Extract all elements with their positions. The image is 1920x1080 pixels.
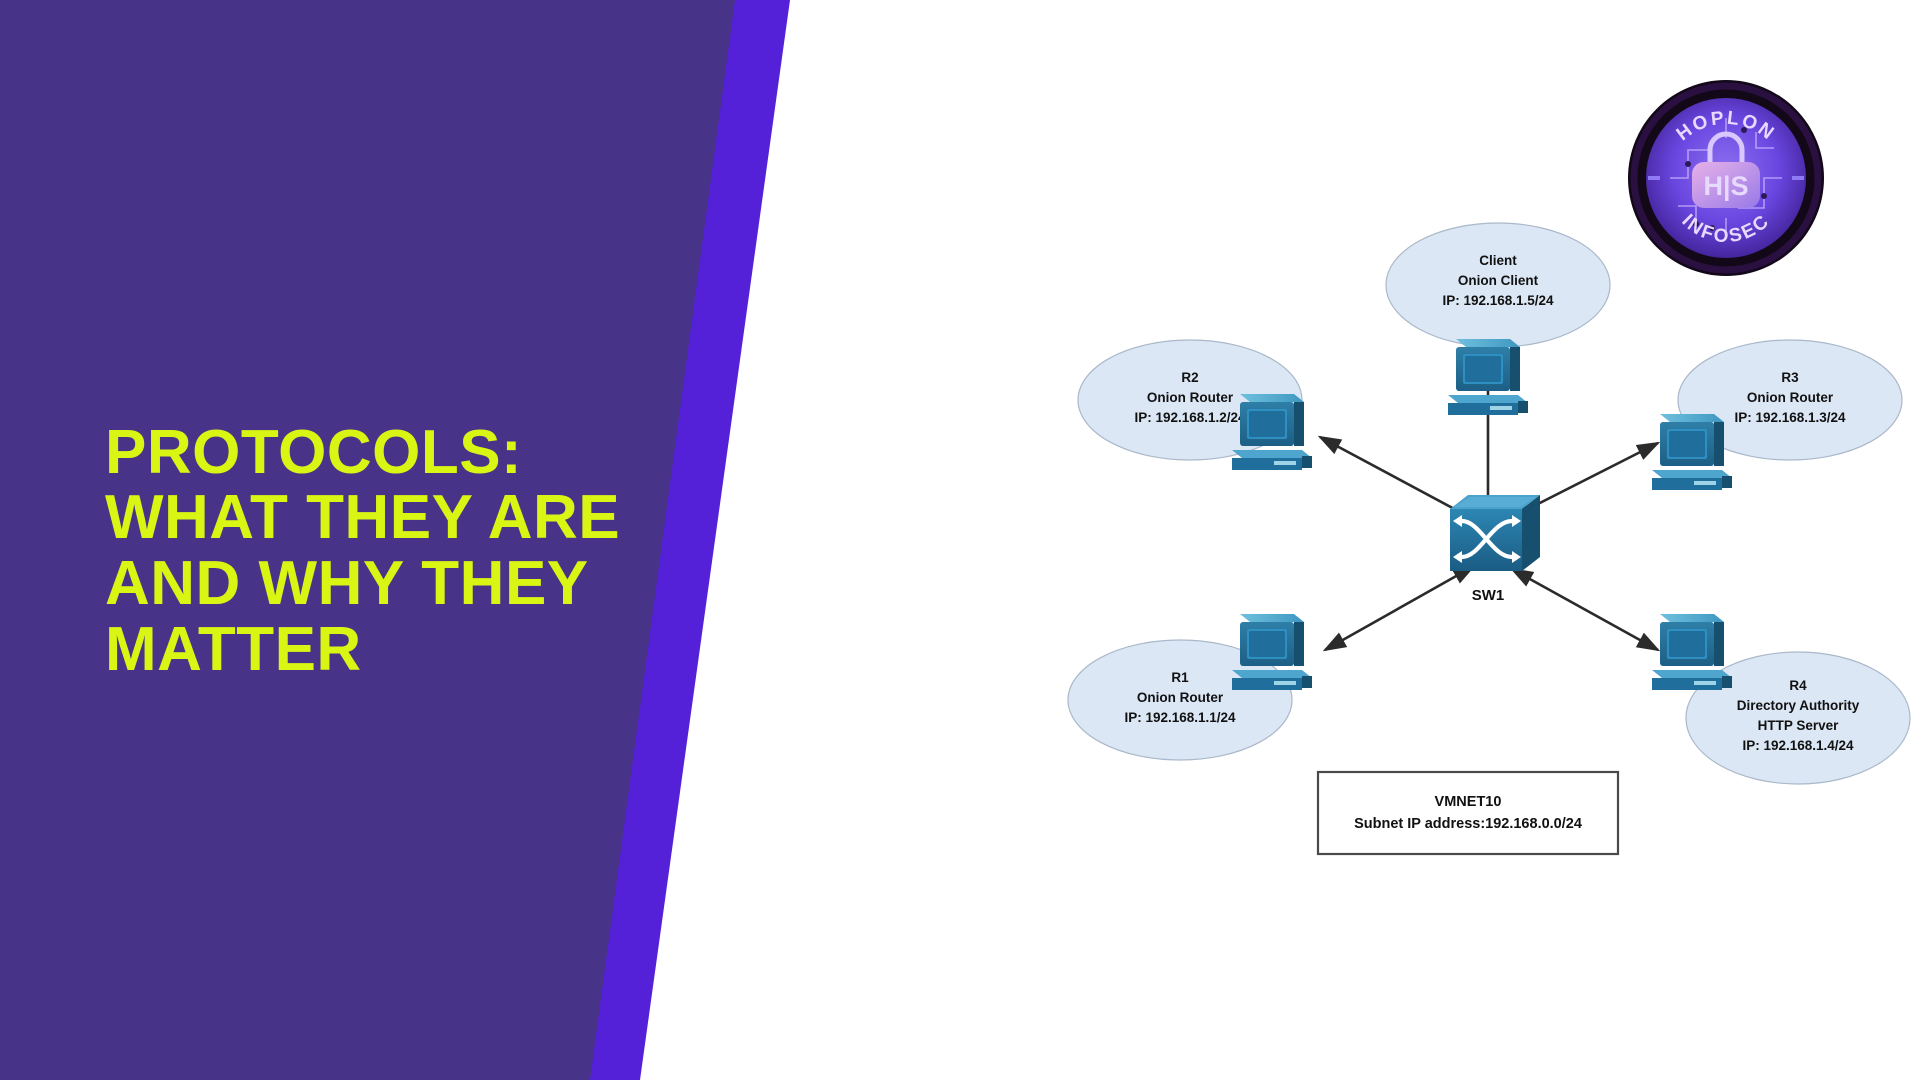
node-r1-line3: IP: 192.168.1.1/24 — [1124, 710, 1236, 725]
node-client-line3: IP: 192.168.1.5/24 — [1442, 293, 1554, 308]
link-sw1-r1 — [1325, 575, 1458, 650]
link-sw1-r3 — [1526, 443, 1658, 510]
subnet-box[interactable]: VMNET10 Subnet IP address:192.168.0.0/24 — [1318, 772, 1618, 854]
desktop-computer-icon — [1652, 614, 1732, 690]
node-r3-line3: IP: 192.168.1.3/24 — [1734, 410, 1846, 425]
node-r4-line4: IP: 192.168.1.4/24 — [1742, 738, 1854, 753]
slide-canvas: Protocols: What they are and why they ma… — [0, 0, 1920, 1080]
desktop-computer-icon — [1232, 614, 1312, 690]
subnet-box-rect — [1318, 772, 1618, 854]
desktop-computer-icon — [1652, 414, 1732, 490]
desktop-computer-icon — [1448, 339, 1528, 415]
node-sw1-label: SW1 — [1472, 587, 1505, 604]
node-r4-line3: HTTP Server — [1758, 718, 1840, 733]
node-client[interactable]: Client Onion Client IP: 192.168.1.5/24 — [1386, 223, 1610, 415]
node-r4-line1: R4 — [1789, 678, 1807, 693]
node-client-line1: Client — [1479, 253, 1517, 268]
link-sw1-r2 — [1320, 437, 1460, 512]
subnet-box-line2: Subnet IP address:192.168.0.0/24 — [1354, 816, 1582, 832]
logo-center-text: H|S — [1703, 171, 1748, 201]
node-r1-line1: R1 — [1171, 670, 1189, 685]
link-sw1-r4 — [1528, 578, 1658, 650]
node-r2-line2: Onion Router — [1147, 390, 1234, 405]
node-r2-line3: IP: 192.168.1.2/24 — [1134, 410, 1246, 425]
node-client-line2: Onion Client — [1458, 273, 1539, 288]
node-r4[interactable]: R4 Directory Authority HTTP Server IP: 1… — [1652, 614, 1910, 784]
node-r4-line2: Directory Authority — [1737, 698, 1860, 713]
node-r1-line2: Onion Router — [1137, 690, 1224, 705]
node-r2[interactable]: R2 Onion Router IP: 192.168.1.2/24 — [1078, 340, 1312, 470]
page-title: Protocols: What they are and why they ma… — [105, 420, 765, 683]
subnet-box-line1: VMNET10 — [1435, 794, 1502, 810]
node-sw1[interactable]: SW1 — [1450, 495, 1540, 604]
node-r3-line2: Onion Router — [1747, 390, 1834, 405]
node-r2-line1: R2 — [1181, 370, 1198, 385]
node-r1[interactable]: R1 Onion Router IP: 192.168.1.1/24 — [1068, 614, 1312, 760]
node-r3-line1: R3 — [1781, 370, 1799, 385]
hoplon-infosec-logo[interactable]: H|S HOPLON INFOSEC — [1626, 78, 1826, 278]
switch-cube-icon — [1450, 495, 1540, 571]
desktop-computer-icon — [1232, 394, 1312, 470]
node-r3[interactable]: R3 Onion Router IP: 192.168.1.3/24 — [1652, 340, 1902, 490]
